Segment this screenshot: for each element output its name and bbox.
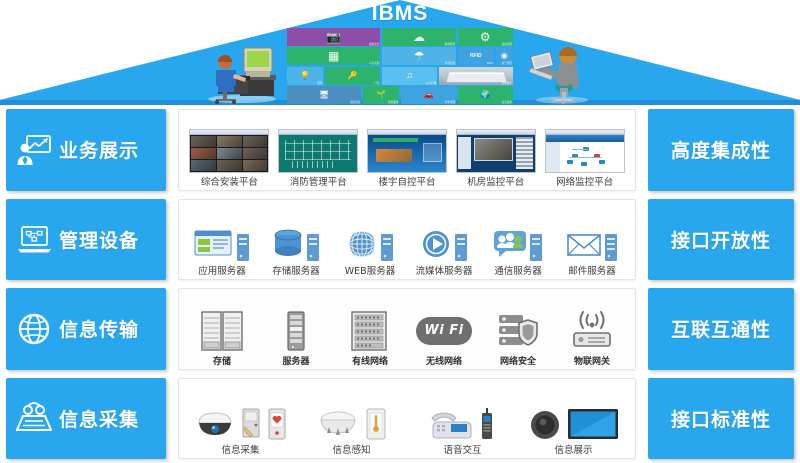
tile-lighting[interactable]: 💡 照明 <box>287 67 323 85</box>
tile-video-surveillance[interactable]: 📷 视频监控 <box>287 28 380 46</box>
dome-camera-and-card-reader-icons <box>195 395 287 441</box>
tile-label: 设备管理 <box>502 42 512 46</box>
sidebar-label: 信息采集 <box>59 405 139 432</box>
tile-label: 照明 <box>317 81 322 85</box>
info-icon: 🌍 <box>480 91 490 99</box>
rfid-icon: RFID <box>470 54 482 59</box>
people-chat-icon <box>493 218 543 262</box>
layer-1-right-cell: 高度集成性 <box>642 105 800 195</box>
layer-4-left-cell: 信息采集 <box>0 374 172 463</box>
fire-cad-screenshot <box>278 129 358 173</box>
item-caption: 信息采集 <box>221 442 259 456</box>
item-caption: 综合安装平台 <box>201 174 258 188</box>
item-caption: 有线网络 <box>352 354 388 367</box>
sidebar-label: 业务展示 <box>59 136 139 163</box>
list-item[interactable]: 信息展示 <box>518 383 629 457</box>
wifi-logo-text: Wi Fi <box>416 317 472 345</box>
tile-energy[interactable]: ☁ 能耗管理 <box>382 28 456 46</box>
tile-label: 环境监测 <box>445 61 455 65</box>
item-caption: 流媒体服务器 <box>415 263 472 277</box>
network-rack-icon <box>350 309 390 353</box>
tile-info-publish[interactable]: 🌍 信息发布 <box>458 86 513 104</box>
item-caption: 无线网络 <box>426 354 462 367</box>
laptop-network-icon <box>16 222 52 256</box>
feature-label: 接口标准性 <box>671 405 771 432</box>
server-room-icon: 🖥 <box>319 91 329 99</box>
database-cylinder-icon <box>272 218 320 262</box>
tile-label: 信息发布 <box>502 100 512 104</box>
item-caption: 机房监控平台 <box>467 174 524 188</box>
item-caption: 物联网关 <box>574 354 610 367</box>
item-caption: WEB服务器 <box>345 263 395 277</box>
sidebar-item-information-transmission[interactable]: 信息传输 <box>6 288 166 370</box>
list-item[interactable]: 物联网关 <box>555 293 629 367</box>
cctv-camera-icon: 📷 <box>326 31 341 43</box>
item-caption: 网络监控平台 <box>556 174 613 188</box>
layer-3-left-cell: 信息传输 <box>0 284 172 374</box>
play-button-icon <box>420 218 468 262</box>
sidebar-item-business-display[interactable]: 业务展示 <box>6 109 166 191</box>
sidebar-label: 信息传输 <box>59 315 139 342</box>
tile-access-control[interactable]: 🔑 门禁 <box>325 67 380 85</box>
list-item[interactable]: 语音交互 <box>407 383 518 457</box>
tile-label: 门禁 <box>374 81 379 85</box>
feature-interface-standardization[interactable]: 接口标准性 <box>648 378 794 460</box>
server-tower-icon <box>285 309 307 353</box>
sidebar-item-information-collection[interactable]: 信息采集 <box>6 378 166 460</box>
servers-panel: 应用服务器 <box>178 199 636 281</box>
feature-high-integration[interactable]: 高度集成性 <box>648 109 794 191</box>
list-item[interactable]: 应用服务器 <box>185 204 259 278</box>
list-item[interactable]: 通信服务器 <box>481 204 555 278</box>
list-item[interactable]: 信息采集 <box>185 383 296 457</box>
item-caption: 信息展示 <box>554 442 592 456</box>
tile-server-room[interactable]: 🖥 机房监控 <box>287 86 361 104</box>
server-shield-icon <box>496 309 540 353</box>
feature-label: 高度集成性 <box>671 136 771 163</box>
item-caption: 应用服务器 <box>198 263 246 277</box>
asset-icon: ◉ <box>501 52 508 60</box>
item-caption: 信息感知 <box>332 442 370 456</box>
layer-1-main-cell: 综合安装平台 消防管理平台 楼宇自控平台 <box>172 105 642 195</box>
ibms-architecture-diagram: IBMS <box>0 0 800 463</box>
page-title: IBMS <box>0 2 800 26</box>
item-caption: 网络安全 <box>500 354 536 367</box>
tile-label: 公共广播 <box>426 81 436 85</box>
layers-grid: 业务展示 综合安装平台 消防管理平台 <box>0 105 800 463</box>
list-item[interactable]: 网络安全 <box>481 293 555 367</box>
tile-rfid[interactable]: RFID RFID <box>458 47 494 65</box>
tile-label: 能耗管理 <box>445 42 455 46</box>
storage-rack-icon <box>200 309 244 353</box>
plant-icon: 🌱 <box>376 91 386 99</box>
tile-label: 停车管理 <box>445 100 455 104</box>
item-caption: 服务器 <box>282 354 309 367</box>
list-item[interactable]: 楼宇自控平台 <box>363 114 452 188</box>
music-icon: ♫ <box>406 71 413 80</box>
layer-2-main-cell: 应用服务器 <box>172 195 642 285</box>
building-automation-screenshot <box>367 129 447 173</box>
list-item[interactable]: 机房监控平台 <box>451 114 540 188</box>
tile-label: 人员考勤 <box>369 61 379 65</box>
list-item[interactable]: Wi Fi 无线网络 <box>407 293 481 367</box>
feature-label: 互联互通性 <box>671 315 771 342</box>
list-item[interactable]: WEB服务器 <box>333 204 407 278</box>
wifi-logo: Wi Fi <box>416 309 472 353</box>
list-item[interactable]: 流媒体服务器 <box>407 204 481 278</box>
tile-label: 视频监控 <box>369 42 379 46</box>
tile-broadcast[interactable]: ♫ 公共广播 <box>382 67 437 85</box>
weather-cloud-icon: ☂ <box>414 50 425 62</box>
network-infrastructure-panel: 存储 服务器 <box>178 288 636 370</box>
tile-environment[interactable]: ☂ 环境监测 <box>382 47 456 65</box>
feature-interconnectivity[interactable]: 互联互通性 <box>648 288 794 370</box>
roof-tile-grid: 📷 视频监控 ☁ 能耗管理 ⚙ 设备管理 ▦ 人员考勤 ☂ 环境监测 RFID <box>287 28 513 104</box>
car-icon: 🚗 <box>423 91 433 99</box>
globe-icon <box>16 312 52 346</box>
key-icon: 🔑 <box>348 72 358 80</box>
field-devices-panel: 信息采集 <box>178 378 636 460</box>
list-item[interactable]: 存储 <box>185 293 259 367</box>
tile-label: 机房监控 <box>350 100 360 104</box>
table-icon: ▦ <box>328 50 339 62</box>
feature-label: 接口开放性 <box>671 226 771 253</box>
tile-parking[interactable]: 🚗 停车管理 <box>401 86 456 104</box>
network-topology-screenshot <box>545 129 625 173</box>
layer-1-left-cell: 业务展示 <box>0 105 172 195</box>
list-item[interactable]: 信息感知 <box>296 383 407 457</box>
item-caption: 通信服务器 <box>494 263 542 277</box>
list-item[interactable]: 网络监控平台 <box>540 114 629 188</box>
globe-wireframe-icon <box>346 218 394 262</box>
tile-asset[interactable]: ◉ 资产管理 <box>496 47 513 65</box>
layer-3-main-cell: 存储 服务器 <box>172 284 642 374</box>
item-caption: 存储 <box>213 354 231 367</box>
layer-4-main-cell: 信息采集 <box>172 374 642 463</box>
speaker-and-display-screen-icons <box>528 395 619 441</box>
item-caption: 楼宇自控平台 <box>378 174 435 188</box>
sensor-antenna-icon <box>16 401 52 435</box>
layer-2-right-cell: 接口开放性 <box>642 195 800 285</box>
tile-label: 资产管理 <box>502 61 512 65</box>
layer-4-right-cell: 接口标准性 <box>642 374 800 463</box>
item-caption: 语音交互 <box>443 442 481 456</box>
presentation-person-icon <box>16 133 52 167</box>
layer-3-right-cell: 互联互通性 <box>642 284 800 374</box>
tile-label: RFID <box>487 62 493 65</box>
list-item[interactable]: 存储服务器 <box>259 204 333 278</box>
feature-interface-openness[interactable]: 接口开放性 <box>648 199 794 281</box>
envelope-icon <box>566 218 618 262</box>
tile-smart-building[interactable]: 智能楼宇 <box>439 67 513 85</box>
sidebar-item-management-equipment[interactable]: 管理设备 <box>6 199 166 281</box>
list-item[interactable]: 邮件服务器 <box>555 204 629 278</box>
tile-label: 智能楼宇 <box>502 81 512 85</box>
layer-2-left-cell: 管理设备 <box>0 195 172 285</box>
tile-device-mgmt[interactable]: ⚙ 设备管理 <box>458 28 513 46</box>
item-caption: 邮件服务器 <box>568 263 616 277</box>
server-room-screenshot <box>456 129 536 173</box>
list-item[interactable]: 有线网络 <box>333 293 407 367</box>
roof-section: IBMS <box>0 0 800 104</box>
lighting-icon: 💡 <box>300 72 310 80</box>
list-item[interactable]: 综合安装平台 <box>185 114 274 188</box>
cctv-wall-screenshot <box>189 129 269 173</box>
wireless-gateway-icon <box>569 309 615 353</box>
tile-irrigation[interactable]: 🌱 智能灌溉 <box>363 86 399 104</box>
item-caption: 消防管理平台 <box>290 174 347 188</box>
cloud-icon: ☁ <box>413 31 425 43</box>
application-window-icon <box>194 218 250 262</box>
sidebar-label: 管理设备 <box>59 226 139 253</box>
list-item[interactable]: 服务器 <box>259 293 333 367</box>
business-display-panel: 综合安装平台 消防管理平台 楼宇自控平台 <box>178 109 636 191</box>
smoke-detector-and-thermostat-icons <box>316 395 387 441</box>
gear-icon: ⚙ <box>480 31 491 43</box>
tile-label: 智能灌溉 <box>388 100 398 104</box>
tile-attendance[interactable]: ▦ 人员考勤 <box>287 47 380 65</box>
list-item[interactable]: 消防管理平台 <box>274 114 363 188</box>
person-at-desktop-computer-icon <box>196 42 282 104</box>
item-caption: 存储服务器 <box>272 263 320 277</box>
person-with-laptop-icon <box>526 40 598 104</box>
desk-phone-and-walkie-talkie-icons <box>429 395 496 441</box>
